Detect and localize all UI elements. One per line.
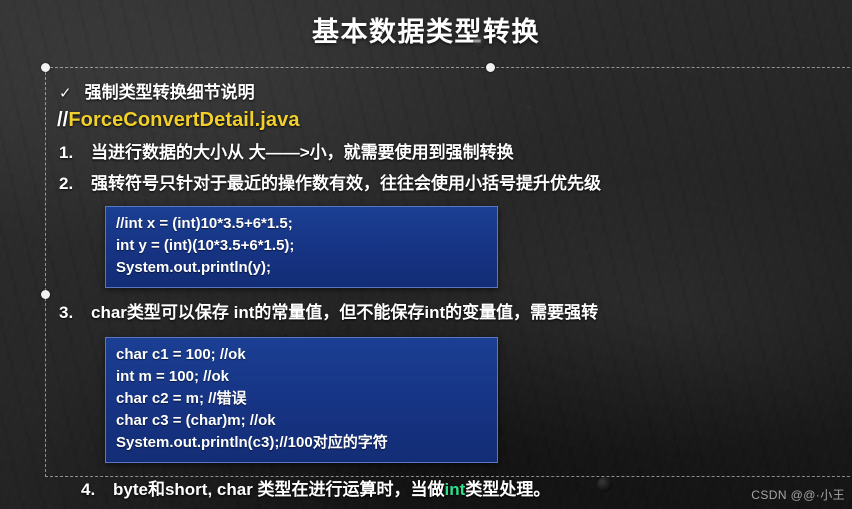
selection-handle-top-center[interactable]	[486, 63, 495, 72]
check-bullet-label: 强制类型转换细节说明	[85, 78, 255, 103]
code-line: char c3 = (char)m; //ok	[116, 410, 487, 432]
check-bullet-row: ✓ 强制类型转换细节说明	[59, 78, 852, 103]
list-item-label: 强转符号只针对于最近的操作数有效，往往会使用小括号提升优先级	[91, 169, 601, 194]
slide-canvas: 基本数据类型转换 ✓ 强制类型转换细节说明 //ForceConvertDeta…	[0, 0, 852, 509]
selection-handle-middle-left[interactable]	[41, 290, 50, 299]
list-item-number: 2.	[59, 174, 79, 194]
code-line: int m = 100; //ok	[116, 366, 487, 388]
content-body: ✓ 强制类型转换细节说明 //ForceConvertDetail.java 1…	[45, 70, 852, 500]
code-line: //int x = (int)10*3.5+6*1.5;	[116, 213, 487, 235]
code-line: System.out.println(y);	[116, 257, 487, 279]
code-line: char c2 = m; //错误	[116, 388, 487, 410]
list-item: 4. byte和short, char 类型在进行运算时，当做int类型处理。	[81, 475, 852, 500]
list-item-number: 1.	[59, 143, 79, 163]
list-item-number: 4.	[81, 480, 101, 500]
list-item-label: byte和short, char 类型在进行运算时，当做int类型处理。	[113, 475, 550, 500]
code-block-1: //int x = (int)10*3.5+6*1.5; int y = (in…	[105, 206, 498, 288]
page-title: 基本数据类型转换	[0, 10, 852, 49]
code-block-2: char c1 = 100; //ok int m = 100; //ok ch…	[105, 337, 498, 463]
list-item-text-before: byte和short, char 类型在进行运算时，当做	[113, 480, 445, 499]
list-item: 3. char类型可以保存 int的常量值，但不能保存int的变量值，需要强转	[59, 298, 852, 323]
check-mark-icon: ✓	[59, 84, 72, 102]
list-item: 1. 当进行数据的大小从 大——>小，就需要使用到强制转换	[59, 138, 852, 163]
selection-handle-top-left[interactable]	[41, 63, 50, 72]
list-item-text-after: 类型处理。	[465, 480, 550, 499]
code-line: int y = (int)(10*3.5+6*1.5);	[116, 235, 487, 257]
comment-slashes: //	[57, 109, 68, 131]
list-item-number: 3.	[59, 303, 79, 323]
list-item-label: char类型可以保存 int的常量值，但不能保存int的变量值，需要强转	[91, 298, 598, 323]
code-line: System.out.println(c3);//100对应的字符	[116, 432, 487, 454]
title-overlay-dot-icon	[473, 36, 486, 49]
csdn-watermark: CSDN @@·小王	[751, 486, 845, 503]
list-item-label: 当进行数据的大小从 大——>小，就需要使用到强制转换	[91, 138, 514, 163]
file-name-label: ForceConvertDetail.java	[68, 109, 299, 131]
list-item: 2. 强转符号只针对于最近的操作数有效，往往会使用小括号提升优先级	[59, 169, 852, 194]
cursor-dot-icon	[597, 477, 612, 492]
file-comment-line: //ForceConvertDetail.java	[57, 109, 852, 132]
code-line: char c1 = 100; //ok	[116, 344, 487, 366]
keyword-int: int	[445, 480, 466, 499]
